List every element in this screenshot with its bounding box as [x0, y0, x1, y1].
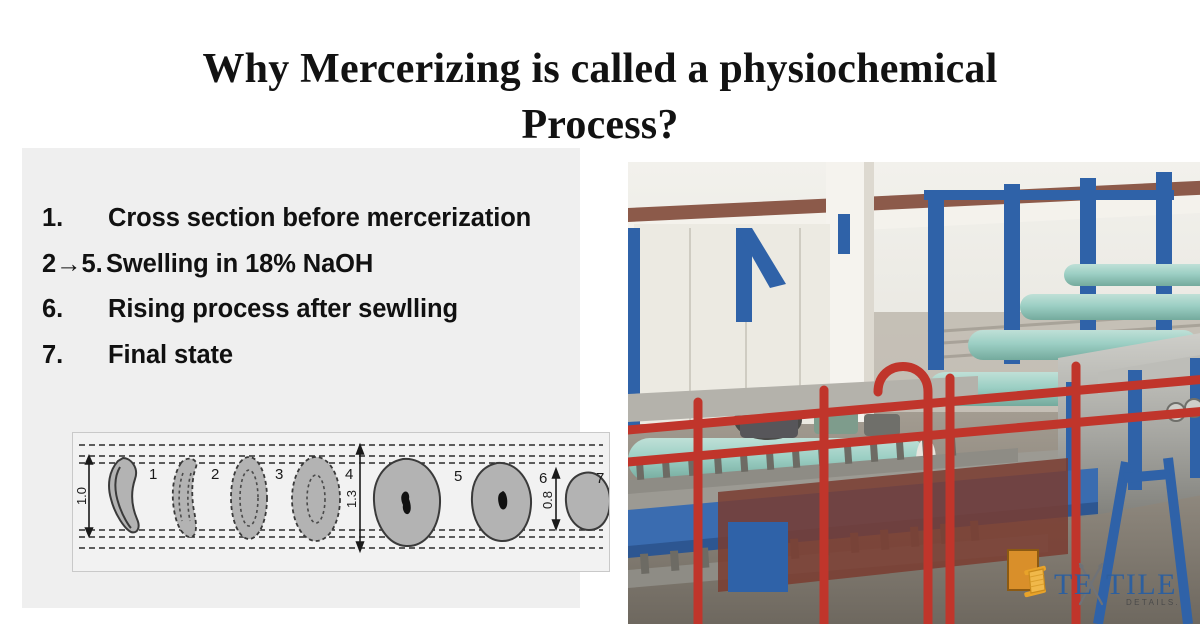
- fiber-number-4: 4: [345, 466, 353, 483]
- list-item-marker: 1.: [42, 206, 108, 232]
- textile-details-logo: TE TILE DETAILS.: [1018, 558, 1186, 610]
- list-item: 2→5. Swelling in 18% NaOH: [42, 252, 562, 278]
- list-item-label: Rising process after sewlling: [108, 297, 562, 323]
- list-item-marker: 6.: [42, 297, 108, 323]
- fiber-number-3: 3: [275, 466, 283, 483]
- list-item: 6. Rising process after sewlling: [42, 297, 562, 323]
- list-item: 1. Cross section before mercerization: [42, 206, 562, 232]
- steps-list: 1. Cross section before mercerization 2→…: [42, 206, 562, 388]
- logo-subtext: DETAILS.: [1126, 598, 1180, 607]
- fiber-stage-4: [292, 457, 340, 541]
- fiber-number-7: 7: [596, 470, 604, 487]
- fiber-stage-6: [472, 463, 531, 541]
- dimension-label-1-3: 1.3: [344, 490, 359, 508]
- thread-spool-icon: [1024, 565, 1047, 597]
- fiber-number-5: 5: [454, 468, 462, 485]
- list-item-marker: 7.: [42, 343, 108, 369]
- machinery-photo: [628, 162, 1200, 624]
- left-info-panel: 1. Cross section before mercerization 2→…: [22, 148, 580, 608]
- fiber-cross-section-diagram: 1.0 1 2 3: [72, 432, 610, 572]
- list-item-label: Final state: [108, 343, 562, 369]
- fiber-number-6: 6: [539, 470, 547, 487]
- list-item-label: Swelling in 18% NaOH: [106, 252, 562, 278]
- list-item-label: Cross section before mercerization: [108, 206, 562, 232]
- fiber-stage-5: [374, 459, 440, 546]
- list-item-marker: 2→5.: [42, 252, 106, 278]
- page-title: Why Mercerizing is called a physiochemic…: [0, 42, 1200, 153]
- fiber-number-1: 1: [149, 466, 157, 483]
- list-item: 7. Final state: [42, 343, 562, 369]
- logo-wordmark: TE: [1054, 568, 1094, 601]
- logo-wordmark-tail: TILE: [1106, 568, 1177, 601]
- fiber-number-2: 2: [211, 466, 219, 483]
- dimension-label-1-0: 1.0: [74, 487, 89, 505]
- fiber-stage-3: [231, 457, 267, 539]
- dimension-label-0-8: 0.8: [540, 491, 555, 509]
